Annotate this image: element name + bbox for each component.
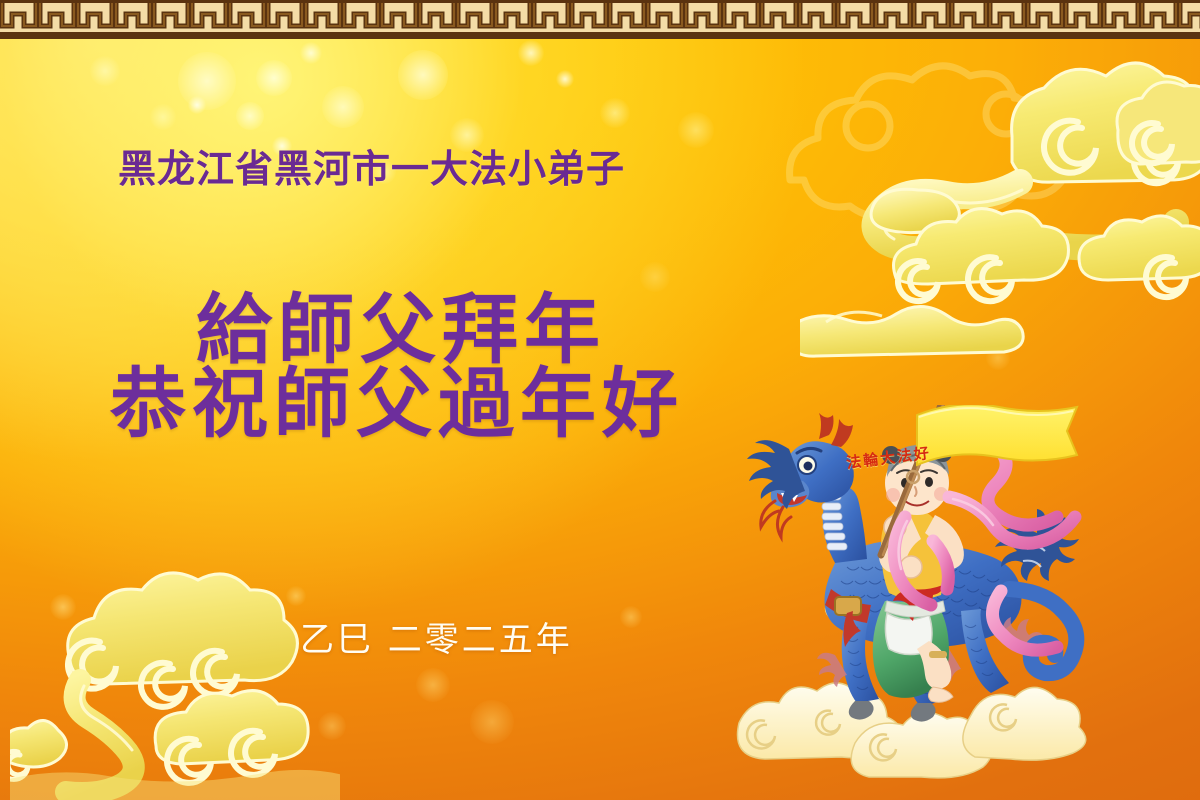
card-header-text: 黑龙江省黑河市一大法小弟子 xyxy=(118,138,625,193)
newyear-greeting-card: 法輪大法好 黑龙江省黑河市一大法小弟子 給師父拜年 恭祝師父過年好 乙巳 二零二… xyxy=(0,0,1200,800)
auspicious-cloud-right-edge xyxy=(1108,70,1200,210)
auspicious-cloud-bottom-left xyxy=(10,560,340,800)
banner-flag xyxy=(917,405,1077,465)
card-date-text: 乙巳 二零二五年 xyxy=(300,612,573,661)
ghost-cloud-top-right xyxy=(760,30,1120,250)
meander-border-top xyxy=(0,0,1200,39)
auspicious-cloud-top-right xyxy=(800,40,1200,370)
greek-key-pattern-icon xyxy=(0,0,1200,36)
greeting-line-2: 恭祝師父過年好 xyxy=(110,342,684,452)
